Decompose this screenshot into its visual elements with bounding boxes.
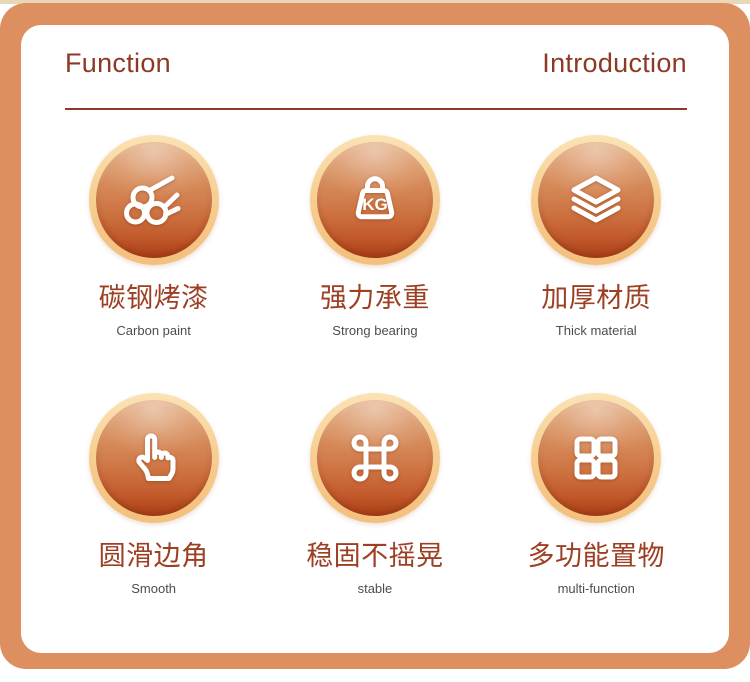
stacked-layers-icon [560, 164, 632, 236]
white-card: Function Introduction [21, 25, 729, 653]
feature-title-en: multi-function [558, 582, 635, 596]
orange-frame: Function Introduction [0, 3, 750, 669]
icon-medallion [89, 135, 219, 265]
icon-medallion [89, 393, 219, 523]
feature-title-en: stable [358, 582, 393, 596]
feature-title-en: Thick material [556, 324, 637, 338]
feature-title-en: Carbon paint [116, 324, 190, 338]
icon-medallion [310, 393, 440, 523]
paint-molecules-icon [118, 164, 190, 236]
page-title-left: Function [65, 50, 171, 77]
icon-medallion-inner: KG [317, 142, 433, 258]
icon-medallion-inner [538, 142, 654, 258]
header-divider [65, 108, 687, 110]
kg-weight-icon: KG [339, 164, 411, 236]
icon-medallion-inner [317, 400, 433, 516]
icon-medallion-inner [96, 142, 212, 258]
feature-title-en: Strong bearing [332, 324, 417, 338]
grid-four-squares-icon [560, 422, 632, 494]
feature-item-multi-function: 多功能置物 multi-function [486, 393, 707, 651]
icon-medallion-inner [96, 400, 212, 516]
pointing-hand-icon [118, 422, 190, 494]
header: Function Introduction [65, 50, 687, 77]
feature-title-cn: 多功能置物 [527, 542, 665, 572]
feature-title-cn: 圆滑边角 [99, 542, 209, 572]
icon-medallion: KG [310, 135, 440, 265]
command-loop-icon [339, 422, 411, 494]
feature-title-cn: 碳钢烤漆 [99, 284, 209, 314]
icon-medallion [531, 135, 661, 265]
page-title-right: Introduction [542, 50, 687, 77]
icon-medallion-inner [538, 400, 654, 516]
feature-title-en: Smooth [131, 582, 176, 596]
feature-introduction-banner: Function Introduction [0, 0, 750, 682]
feature-item-carbon-paint: 碳钢烤漆 Carbon paint [43, 135, 264, 393]
feature-title-cn: 稳固不摇晃 [306, 542, 444, 572]
feature-item-thick-material: 加厚材质 Thick material [486, 135, 707, 393]
feature-grid: 碳钢烤漆 Carbon paint KG 强力承 [43, 135, 707, 651]
icon-medallion [531, 393, 661, 523]
svg-text:KG: KG [362, 195, 388, 214]
feature-title-cn: 加厚材质 [541, 284, 651, 314]
feature-item-stable: 稳固不摇晃 stable [264, 393, 485, 651]
feature-item-strong-bearing: KG 强力承重 Strong bearing [264, 135, 485, 393]
feature-title-cn: 强力承重 [320, 284, 430, 314]
feature-item-smooth-corner: 圆滑边角 Smooth [43, 393, 264, 651]
